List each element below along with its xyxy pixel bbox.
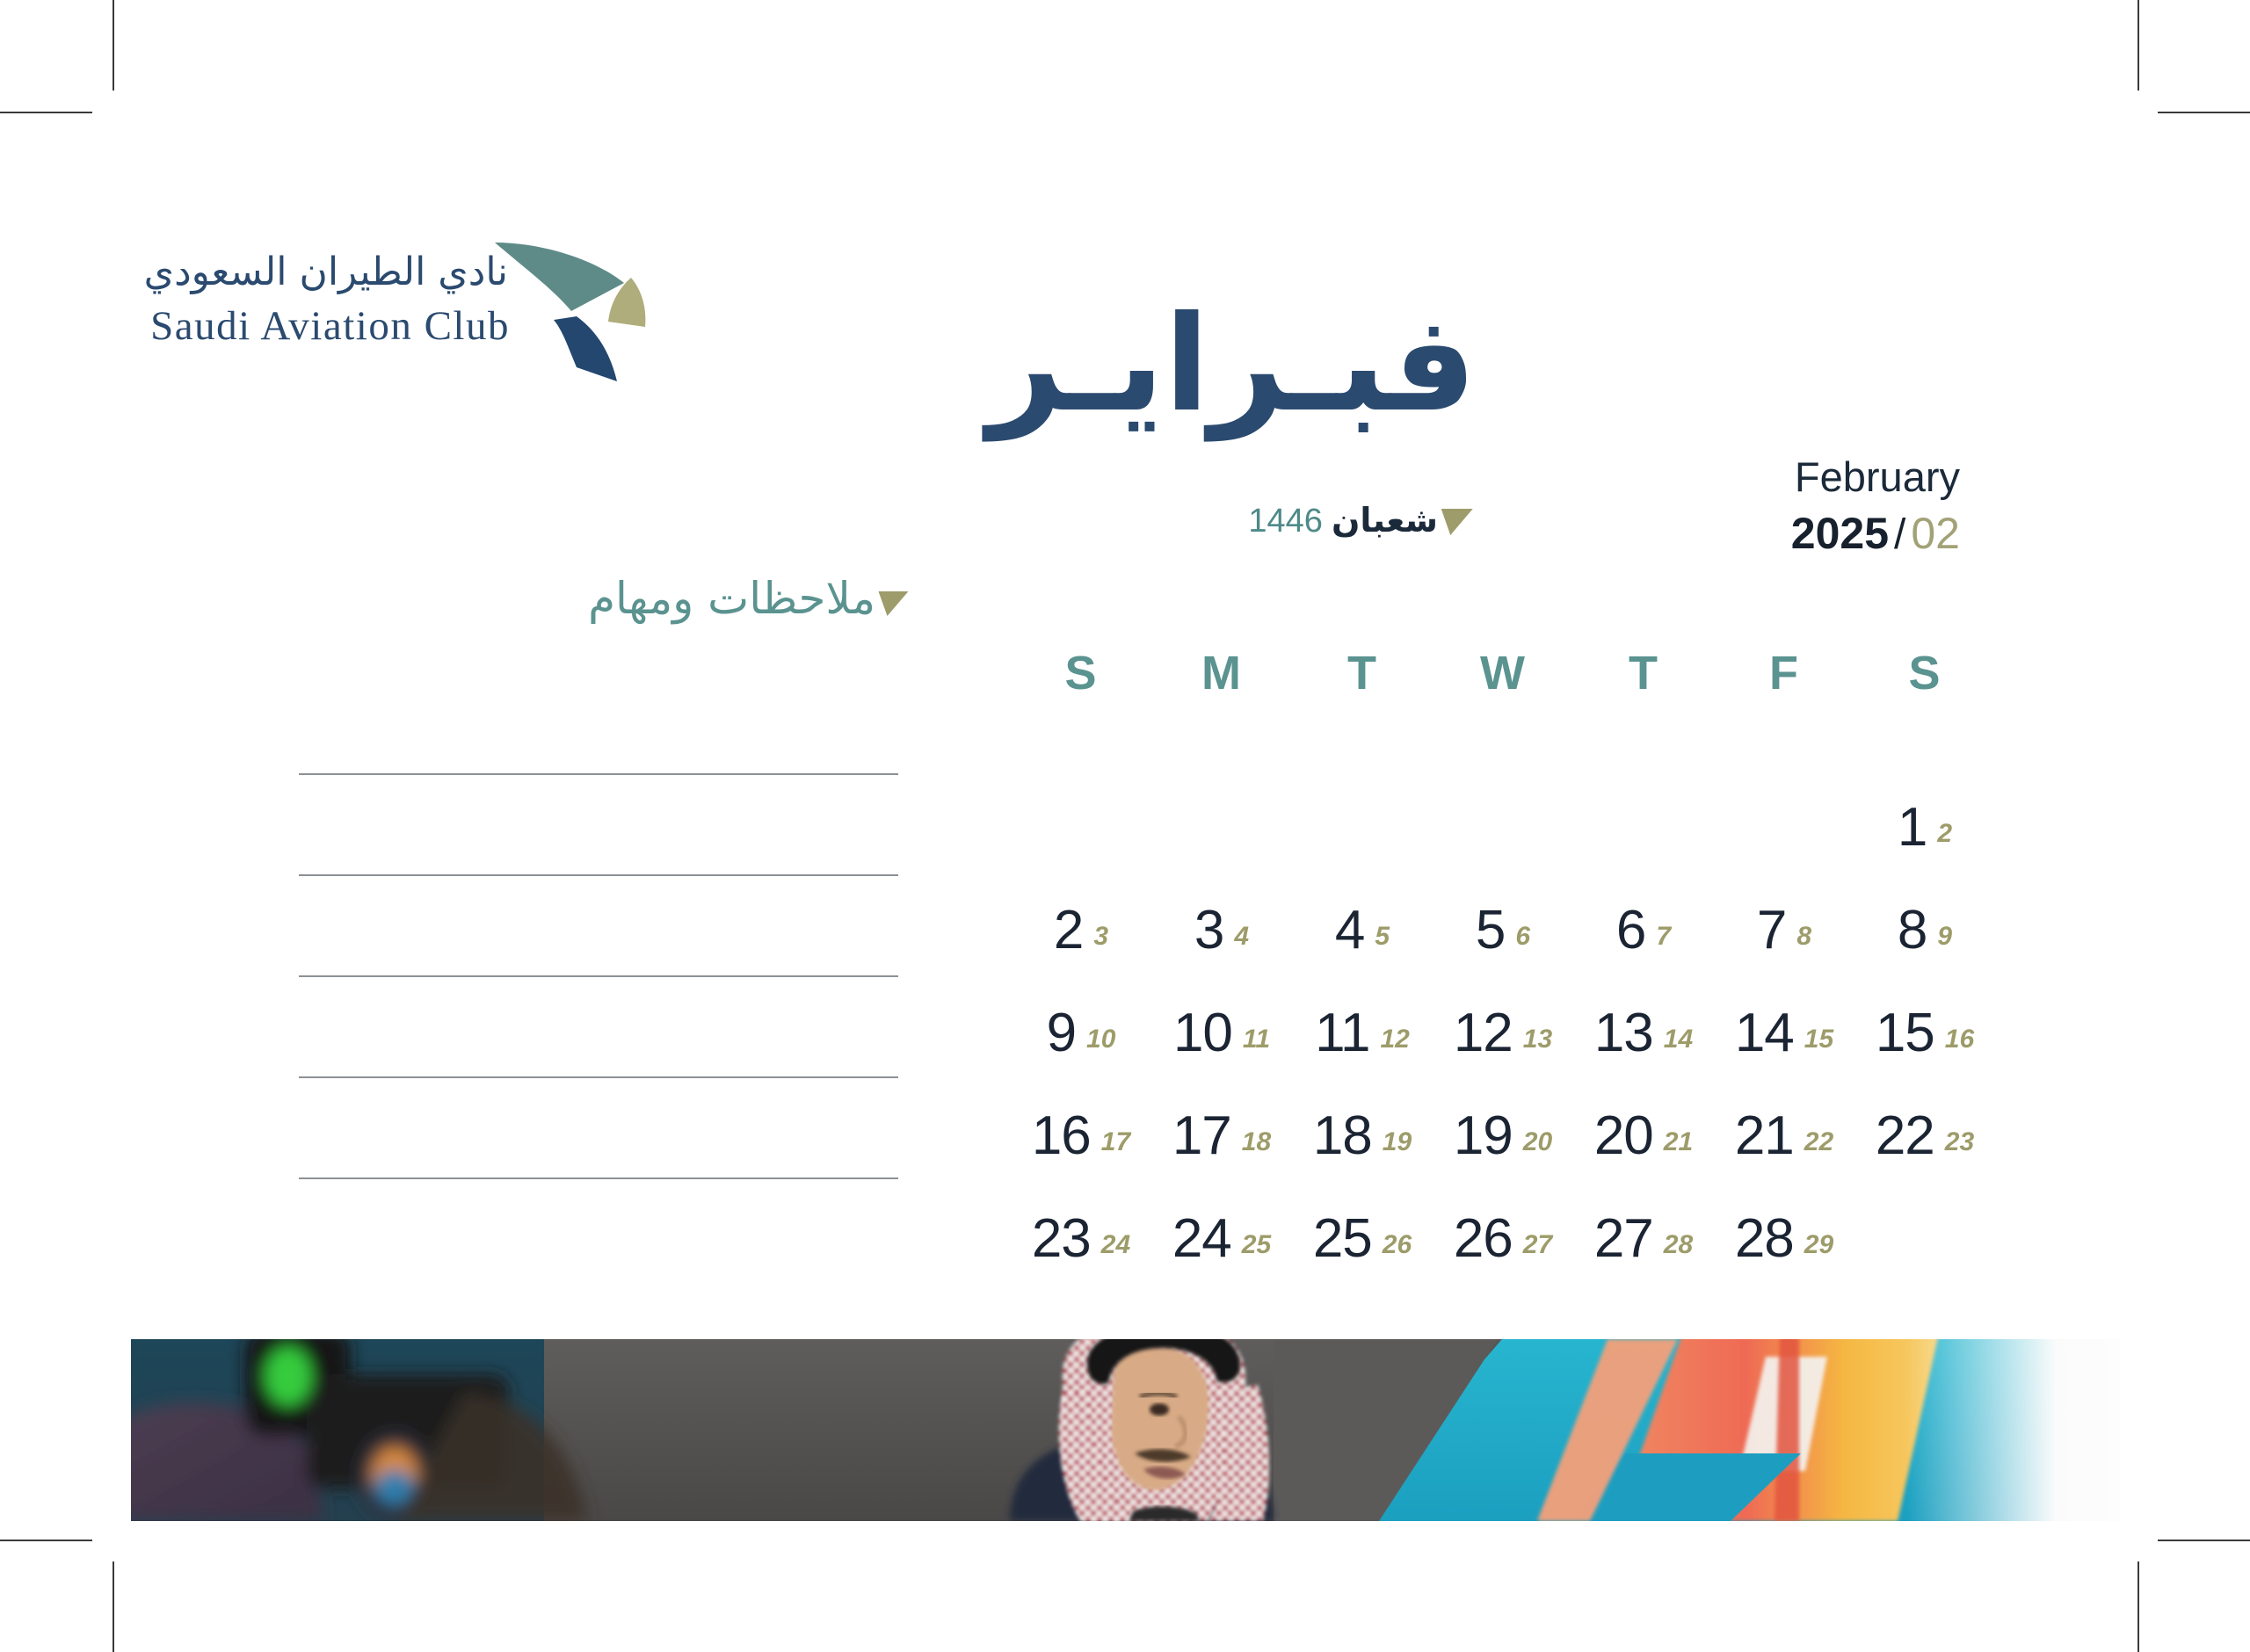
hijri-day-number: 23 xyxy=(1945,1127,1974,1156)
calendar-week-row: 910101111121213131414151516 xyxy=(1011,982,1995,1084)
calendar-day-cell[interactable]: 67 xyxy=(1573,879,1714,982)
calendar-day-cell[interactable]: 23 xyxy=(1011,879,1151,982)
gregorian-day-number: 25 xyxy=(1313,1208,1372,1269)
crop-mark-top-right-vertical xyxy=(2137,0,2139,91)
brand-logo: نادي الطيران السعودي Saudi Aviation Club xyxy=(244,235,701,402)
gregorian-day-number: 24 xyxy=(1172,1208,1231,1269)
hijri-day-number: 26 xyxy=(1383,1230,1412,1259)
calendar-day-cell[interactable]: 2627 xyxy=(1433,1187,1573,1290)
calendar-day-cell-empty xyxy=(1292,776,1433,879)
calendar-day-cell-empty xyxy=(1573,776,1714,879)
hijri-day-number: 16 xyxy=(1945,1025,1974,1054)
event-photo-image xyxy=(131,1339,2120,1521)
gregorian-day-number: 9 xyxy=(1047,1003,1076,1063)
note-line[interactable] xyxy=(299,874,898,876)
gregorian-day-number: 21 xyxy=(1735,1105,1794,1166)
calendar-day-cell-empty xyxy=(1433,776,1573,879)
gregorian-day-number: 28 xyxy=(1735,1208,1794,1269)
hijri-month-label: شعبان xyxy=(1332,501,1438,540)
hijri-year-label: 1446 xyxy=(1248,503,1323,540)
year-month-row: 2025/02 xyxy=(1564,508,1960,559)
calendar-day-cell[interactable]: 2021 xyxy=(1573,1084,1714,1187)
calendar-day-cell[interactable]: 1617 xyxy=(1011,1084,1151,1187)
hijri-day-number: 22 xyxy=(1804,1127,1833,1156)
hijri-day-number: 4 xyxy=(1234,922,1249,951)
hijri-day-number: 12 xyxy=(1381,1025,1410,1054)
gregorian-day-number: 6 xyxy=(1616,900,1645,960)
crop-mark-bottom-left-vertical xyxy=(112,1561,114,1652)
hijri-day-number: 19 xyxy=(1383,1127,1412,1156)
hijri-day-number: 8 xyxy=(1796,922,1811,951)
hijri-day-number: 21 xyxy=(1664,1127,1693,1156)
gregorian-day-number: 12 xyxy=(1454,1003,1513,1063)
hijri-day-number: 7 xyxy=(1656,922,1671,951)
calendar-day-cell-empty xyxy=(1151,776,1292,879)
gregorian-day-number: 22 xyxy=(1876,1105,1934,1166)
weekday-header-fri: F xyxy=(1714,646,1854,776)
gregorian-day-number: 17 xyxy=(1172,1105,1231,1166)
hijri-date-row: شعبان1446 xyxy=(967,501,1477,547)
note-line[interactable] xyxy=(299,975,898,977)
notes-heading-label: ملاحظات ومهام xyxy=(588,573,875,624)
hijri-day-number: 25 xyxy=(1242,1230,1271,1259)
calendar-day-cell[interactable]: 34 xyxy=(1151,879,1292,982)
calendar-day-cell-empty xyxy=(1854,1187,1995,1290)
hijri-day-number: 10 xyxy=(1086,1025,1115,1054)
hijri-day-number: 5 xyxy=(1375,922,1390,951)
gregorian-day-number: 8 xyxy=(1898,900,1927,960)
hijri-day-number: 17 xyxy=(1101,1127,1130,1156)
month-english-label: February xyxy=(1564,453,1960,501)
note-line[interactable] xyxy=(299,1076,898,1078)
notes-lines-area[interactable] xyxy=(299,773,898,1179)
gregorian-day-number: 18 xyxy=(1313,1105,1372,1166)
calendar-day-cell[interactable]: 2425 xyxy=(1151,1187,1292,1290)
gregorian-day-number: 2 xyxy=(1054,900,1083,960)
month-number-label: 02 xyxy=(1911,509,1960,558)
hijri-day-number: 15 xyxy=(1804,1025,1833,1054)
logo-arabic-text: نادي الطيران السعودي xyxy=(144,250,508,294)
calendar-day-cell[interactable]: 2526 xyxy=(1292,1187,1433,1290)
calendar-day-cell[interactable]: 2728 xyxy=(1573,1187,1714,1290)
calendar-day-cell[interactable]: 1112 xyxy=(1292,982,1433,1084)
weekday-header-wed: W xyxy=(1433,646,1573,776)
calendar-day-cell[interactable]: 2829 xyxy=(1714,1187,1854,1290)
gregorian-day-number: 14 xyxy=(1735,1003,1794,1063)
gregorian-day-number: 26 xyxy=(1454,1208,1513,1269)
weekday-header-mon: M xyxy=(1151,646,1292,776)
gregorian-day-number: 1 xyxy=(1898,797,1927,858)
weekday-header-sun: S xyxy=(1011,646,1151,776)
calendar-header-row: S M T W T F S xyxy=(1011,646,1995,776)
hijri-day-number: 14 xyxy=(1664,1025,1693,1054)
gregorian-day-number: 10 xyxy=(1173,1003,1232,1063)
hijri-day-number: 11 xyxy=(1243,1025,1270,1054)
hijri-day-number: 18 xyxy=(1242,1127,1271,1156)
year-label: 2025 xyxy=(1791,509,1889,558)
gregorian-day-number: 5 xyxy=(1476,900,1505,960)
hijri-day-number: 9 xyxy=(1937,922,1952,951)
calendar-day-cell[interactable]: 1819 xyxy=(1292,1084,1433,1187)
triangle-marker-icon-notes xyxy=(873,591,909,616)
hijri-day-number: 2 xyxy=(1937,819,1952,848)
calendar-week-row: 12 xyxy=(1011,776,1995,879)
gregorian-day-number: 4 xyxy=(1335,900,1364,960)
crop-mark-top-left-vertical xyxy=(112,0,114,91)
gregorian-day-number: 27 xyxy=(1594,1208,1653,1269)
crop-mark-bottom-right-horizontal xyxy=(2158,1540,2250,1541)
gregorian-day-number: 23 xyxy=(1032,1208,1091,1269)
separator-label: / xyxy=(1894,511,1905,558)
hijri-day-number: 24 xyxy=(1101,1230,1130,1259)
calendar-day-cell-empty xyxy=(1714,776,1854,879)
month-title-arabic: فبـرايـر xyxy=(1020,299,1477,431)
calendar-day-cell[interactable]: 89 xyxy=(1854,879,1995,982)
calendar-day-cell[interactable]: 56 xyxy=(1433,879,1573,982)
weekday-header-thu: T xyxy=(1573,646,1714,776)
calendar-day-cell[interactable]: 2223 xyxy=(1854,1084,1995,1187)
calendar-day-cell[interactable]: 1920 xyxy=(1433,1084,1573,1187)
calendar-day-cell[interactable]: 1516 xyxy=(1854,982,1995,1084)
calendar-week-row: 23344556677889 xyxy=(1011,879,1995,982)
hijri-day-number: 29 xyxy=(1804,1230,1833,1259)
calendar-grid: S M T W T F S 12233445566778899101011111… xyxy=(1011,646,1995,1290)
hijri-day-number: 27 xyxy=(1523,1230,1552,1259)
crop-mark-bottom-left-horizontal xyxy=(0,1540,92,1541)
calendar-day-cell[interactable]: 1415 xyxy=(1714,982,1854,1084)
crop-mark-top-right-horizontal xyxy=(2158,112,2250,113)
calendar-day-cell[interactable]: 12 xyxy=(1854,776,1995,879)
calendar-day-cell[interactable]: 2324 xyxy=(1011,1187,1151,1290)
hijri-day-number: 6 xyxy=(1515,922,1530,951)
logo-english-text: Saudi Aviation Club xyxy=(150,302,510,350)
calendar-day-cell[interactable]: 1718 xyxy=(1151,1084,1292,1187)
triangle-marker-icon xyxy=(1434,509,1472,535)
calendar-day-cell[interactable]: 2122 xyxy=(1714,1084,1854,1187)
crop-mark-top-left-horizontal xyxy=(0,112,92,113)
crop-mark-bottom-right-vertical xyxy=(2137,1561,2139,1652)
calendar-day-cell[interactable]: 45 xyxy=(1292,879,1433,982)
gregorian-day-number: 16 xyxy=(1032,1105,1091,1166)
calendar-week-row: 232424252526262727282829 xyxy=(1011,1187,1995,1290)
gregorian-day-number: 11 xyxy=(1315,1003,1369,1063)
gregorian-day-number: 3 xyxy=(1194,900,1223,960)
calendar-day-cell[interactable]: 1213 xyxy=(1433,982,1573,1084)
gregorian-day-number: 13 xyxy=(1594,1003,1653,1063)
notes-heading: ملاحظات ومهام xyxy=(492,573,914,628)
event-photo xyxy=(131,1339,2120,1521)
gregorian-day-number: 7 xyxy=(1757,900,1786,960)
calendar-day-cell[interactable]: 78 xyxy=(1714,879,1854,982)
calendar-day-cell[interactable]: 1011 xyxy=(1151,982,1292,1084)
note-line[interactable] xyxy=(299,773,898,775)
calendar-day-cell[interactable]: 1314 xyxy=(1573,982,1714,1084)
calendar-day-cell-empty xyxy=(1011,776,1151,879)
weekday-header-tue: T xyxy=(1292,646,1433,776)
calendar-week-row: 1617171818191920202121222223 xyxy=(1011,1084,1995,1187)
calendar-day-cell[interactable]: 910 xyxy=(1011,982,1151,1084)
gregorian-day-number: 15 xyxy=(1876,1003,1934,1063)
note-line[interactable] xyxy=(299,1177,898,1179)
gregorian-day-number: 19 xyxy=(1454,1105,1513,1166)
hijri-day-number: 28 xyxy=(1664,1230,1693,1259)
calendar-page: نادي الطيران السعودي Saudi Aviation Club… xyxy=(0,0,2250,1652)
hijri-day-number: 20 xyxy=(1523,1127,1552,1156)
weekday-header-sat: S xyxy=(1854,646,1995,776)
hijri-day-number: 3 xyxy=(1093,922,1108,951)
hijri-day-number: 13 xyxy=(1523,1025,1552,1054)
gregorian-day-number: 20 xyxy=(1594,1105,1653,1166)
